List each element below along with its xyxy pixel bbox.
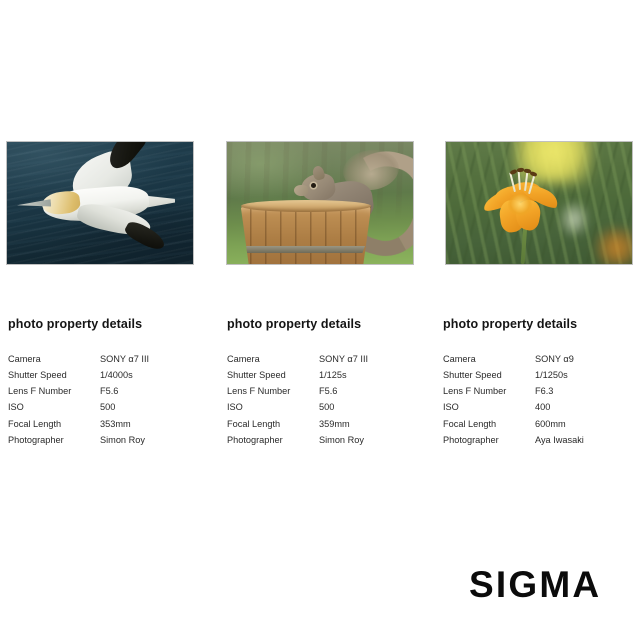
squirrel-snout xyxy=(294,185,308,196)
spec-row: Lens F Number F6.3 xyxy=(443,387,640,403)
spec-row: Lens F Number F5.6 xyxy=(8,387,220,403)
spec-value: 353mm xyxy=(100,420,220,436)
spec-row: Shutter Speed 1/1250s xyxy=(443,371,640,387)
spec-value: Aya Iwasaki xyxy=(535,436,640,452)
spec-table: Camera SONY α7 III Shutter Speed 1/4000s… xyxy=(8,355,220,453)
spec-label: ISO xyxy=(227,403,319,419)
spec-row: Photographer Simon Roy xyxy=(8,436,220,452)
spec-value: 359mm xyxy=(319,420,439,436)
daylily-anther xyxy=(530,171,538,177)
spec-label: Shutter Speed xyxy=(443,371,535,387)
spec-value: 400 xyxy=(535,403,640,419)
spec-table: Camera SONY α7 III Shutter Speed 1/125s … xyxy=(227,355,439,453)
spec-row: Lens F Number F5.6 xyxy=(227,387,439,403)
details-heading: photo property details xyxy=(443,318,640,331)
spec-label: Lens F Number xyxy=(8,387,100,403)
spec-value: SONY α9 xyxy=(535,355,640,371)
spec-label: Photographer xyxy=(443,436,535,452)
photo-thumbnail-gannet[interactable] xyxy=(7,142,193,264)
spec-value: 1/1250s xyxy=(535,371,640,387)
spec-value: Simon Roy xyxy=(100,436,220,452)
gannet-bird xyxy=(19,156,179,248)
spec-label: Lens F Number xyxy=(443,387,535,403)
spec-label: Photographer xyxy=(8,436,100,452)
details-column-daylily: photo property details Camera SONY α9 Sh… xyxy=(443,318,640,452)
barrel-rim xyxy=(241,200,371,212)
wooden-barrel xyxy=(235,206,377,264)
spec-label: Shutter Speed xyxy=(227,371,319,387)
daylily-throat xyxy=(508,194,532,216)
spec-value: SONY α7 III xyxy=(319,355,439,371)
spec-row: ISO 500 xyxy=(8,403,220,419)
spec-label: ISO xyxy=(8,403,100,419)
spec-value: F6.3 xyxy=(535,387,640,403)
spec-row: Focal Length 600mm xyxy=(443,420,640,436)
spec-row: Photographer Aya Iwasaki xyxy=(443,436,640,452)
spec-value: 500 xyxy=(319,403,439,419)
spec-row: Shutter Speed 1/4000s xyxy=(8,371,220,387)
spec-value: 1/4000s xyxy=(100,371,220,387)
spec-value: F5.6 xyxy=(100,387,220,403)
spec-value: 500 xyxy=(100,403,220,419)
photo-thumbnail-squirrel[interactable] xyxy=(227,142,413,264)
spec-label: Shutter Speed xyxy=(8,371,100,387)
barrel-metal-band xyxy=(237,246,369,253)
spec-row: ISO 500 xyxy=(227,403,439,419)
orange-bokeh-blob xyxy=(596,228,632,264)
spec-label: Focal Length xyxy=(443,420,535,436)
details-column-squirrel: photo property details Camera SONY α7 II… xyxy=(227,318,439,452)
spec-label: Camera xyxy=(8,355,100,371)
spec-label: Focal Length xyxy=(227,420,319,436)
spec-value: 600mm xyxy=(535,420,640,436)
spec-value: 1/125s xyxy=(319,371,439,387)
spec-value: F5.6 xyxy=(319,387,439,403)
spec-row: Camera SONY α9 xyxy=(443,355,640,371)
photo-gallery xyxy=(0,142,640,264)
spec-label: Photographer xyxy=(227,436,319,452)
daylily-stamen xyxy=(518,170,521,190)
spec-label: ISO xyxy=(443,403,535,419)
spec-row: Camera SONY α7 III xyxy=(227,355,439,371)
details-heading: photo property details xyxy=(227,318,439,331)
spec-label: Camera xyxy=(443,355,535,371)
spec-value: Simon Roy xyxy=(319,436,439,452)
details-column-gannet: photo property details Camera SONY α7 II… xyxy=(8,318,220,452)
spec-label: Focal Length xyxy=(8,420,100,436)
squirrel-eye xyxy=(311,183,316,188)
spec-row: Shutter Speed 1/125s xyxy=(227,371,439,387)
details-heading: photo property details xyxy=(8,318,220,331)
spec-row: Focal Length 353mm xyxy=(8,420,220,436)
barrel-staves xyxy=(235,206,377,264)
spec-row: Photographer Simon Roy xyxy=(227,436,439,452)
white-bokeh-blob xyxy=(560,202,588,236)
spec-table: Camera SONY α9 Shutter Speed 1/1250s Len… xyxy=(443,355,640,453)
spec-value: SONY α7 III xyxy=(100,355,220,371)
spec-label: Lens F Number xyxy=(227,387,319,403)
sigma-brand-logo: SIGMA xyxy=(469,566,601,603)
spec-label: Camera xyxy=(227,355,319,371)
photo-thumbnail-daylily[interactable] xyxy=(446,142,632,264)
spec-row: Camera SONY α7 III xyxy=(8,355,220,371)
spec-row: Focal Length 359mm xyxy=(227,420,439,436)
spec-row: ISO 400 xyxy=(443,403,640,419)
daylily-flower xyxy=(482,170,562,236)
